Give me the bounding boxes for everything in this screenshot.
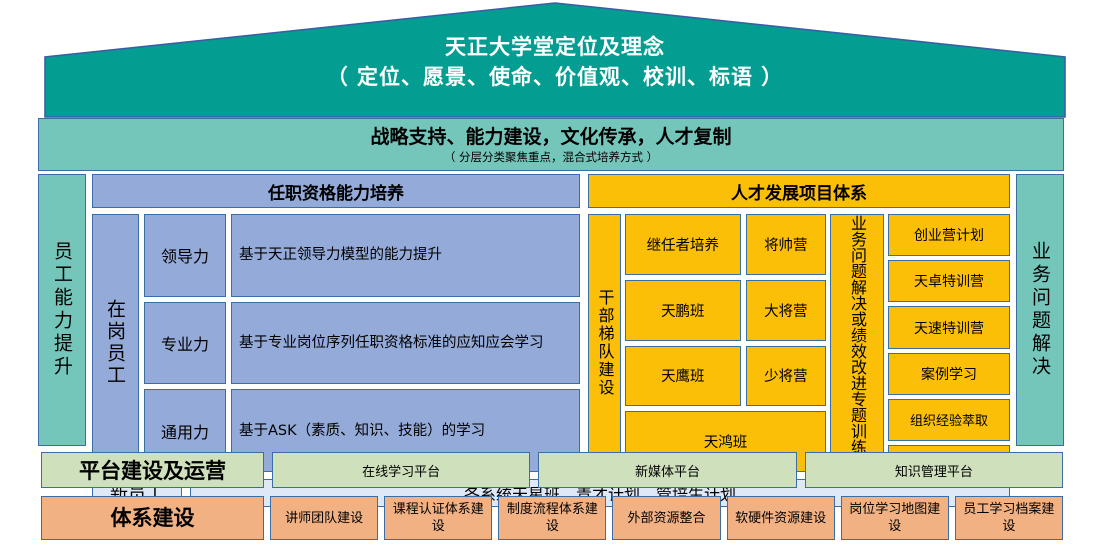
skill-description-cell: 基于专业岗位序列任职资格标准的应知应会学习	[231, 302, 580, 385]
right-pillar-business-problem: 业务问题解决	[1016, 174, 1064, 446]
platform-item[interactable]: 知识管理平台	[805, 452, 1063, 488]
platform-item[interactable]: 新媒体平台	[538, 452, 796, 488]
onjob-employee-label: 在岗员工	[92, 214, 139, 472]
skill-cell[interactable]: 领导力	[144, 214, 226, 297]
platform-row-header: 平台建设及运营	[41, 452, 264, 488]
talent-development-panel-body: 干部梯队建设 继任者培养 将帅营 天鹏班 大将营 天鹰班	[588, 214, 1010, 472]
special-program-cell[interactable]: 天卓特训营	[888, 260, 1010, 302]
system-item[interactable]: 讲师团队建设	[270, 496, 378, 540]
system-item[interactable]: 课程认证体系建设	[384, 496, 492, 540]
strategy-band: 战略支持、能力建设，文化传承，人才复制 （ 分层分类聚焦重点，混合式培养方式 ）	[38, 118, 1064, 171]
special-program-cell[interactable]: 创业营计划	[888, 214, 1010, 256]
skill-cell[interactable]: 专业力	[144, 302, 226, 385]
special-program-cell[interactable]: 案例学习	[888, 353, 1010, 395]
cadre-program-row: 天鹏班 大将营	[625, 280, 826, 341]
diagram-root: 天正大学堂定位及理念 （ 定位、愿景、使命、价值观、校训、标语 ） 战略支持、能…	[0, 0, 1114, 551]
skill-column: 领导力 专业力 通用力	[144, 214, 226, 472]
qualification-panel-body: 在岗员工 领导力 专业力 通用力 基于天正领导力模型的能力提升 基于专业岗位序列…	[92, 214, 580, 472]
qualification-panel: 任职资格能力培养 在岗员工 领导力 专业力 通用力 基于天正领导力模型的能力提升	[92, 174, 580, 472]
program-cell[interactable]: 大将营	[746, 280, 826, 341]
system-item[interactable]: 岗位学习地图建设	[841, 496, 949, 540]
panels-container: 任职资格能力培养 在岗员工 领导力 专业力 通用力 基于天正领导力模型的能力提升	[92, 174, 1010, 472]
strategy-band-main: 战略支持、能力建设，文化传承，人才复制	[370, 125, 731, 149]
program-cell[interactable]: 继任者培养	[625, 214, 741, 275]
roof-shape	[44, 2, 1066, 118]
system-item[interactable]: 软硬件资源建设	[727, 496, 835, 540]
skill-description-column: 基于天正领导力模型的能力提升 基于专业岗位序列任职资格标准的应知应会学习 基于A…	[231, 214, 580, 472]
program-cell[interactable]: 少将营	[746, 346, 826, 407]
roof-section: 天正大学堂定位及理念 （ 定位、愿景、使命、价值观、校训、标语 ）	[44, 2, 1066, 118]
cadre-program-row: 天鹰班 少将营	[625, 346, 826, 407]
system-item[interactable]: 外部资源整合	[612, 496, 720, 540]
special-program-cell[interactable]: 组织经验萃取	[888, 399, 1010, 441]
talent-development-panel-title: 人才发展项目体系	[588, 174, 1010, 208]
qualification-columns: 领导力 专业力 通用力 基于天正领导力模型的能力提升 基于专业岗位序列任职资格标…	[144, 214, 580, 472]
left-pillar-employee-capability: 员工能力提升	[38, 174, 86, 446]
special-program-cell[interactable]: 天速特训营	[888, 306, 1010, 348]
center-column: 任职资格能力培养 在岗员工 领导力 专业力 通用力 基于天正领导力模型的能力提升	[92, 174, 1010, 446]
strategy-band-sub: （ 分层分类聚焦重点，混合式培养方式 ）	[444, 149, 658, 165]
special-program-column: 创业营计划 天卓特训营 天速特训营 案例学习 组织经验萃取 ……	[888, 214, 1010, 472]
program-cell[interactable]: 天鹰班	[625, 346, 741, 407]
main-body: 员工能力提升 任职资格能力培养 在岗员工 领导力 专业力 通用力	[38, 174, 1064, 446]
skill-description-cell: 基于天正领导力模型的能力提升	[231, 214, 580, 297]
qualification-panel-title: 任职资格能力培养	[92, 174, 580, 208]
program-cell[interactable]: 将帅营	[746, 214, 826, 275]
cadre-echelon-label: 干部梯队建设	[588, 214, 621, 472]
system-item[interactable]: 员工学习档案建设	[955, 496, 1063, 540]
program-cell[interactable]: 天鹏班	[625, 280, 741, 341]
platform-item[interactable]: 在线学习平台	[272, 452, 530, 488]
platform-row: 平台建设及运营 在线学习平台 新媒体平台 知识管理平台	[41, 452, 1063, 488]
system-row: 体系建设 讲师团队建设 课程认证体系建设 制度流程体系建设 外部资源整合 软硬件…	[41, 496, 1063, 540]
cadre-program-grid: 继任者培养 将帅营 天鹏班 大将营 天鹰班 少将营	[625, 214, 826, 472]
system-row-header: 体系建设	[41, 496, 264, 540]
talent-development-panel: 人才发展项目体系 干部梯队建设 继任者培养 将帅营 天鹏班 大将营	[588, 174, 1010, 472]
business-problem-training-label: 业务问题解决或绩效改进专题训练营	[830, 214, 884, 472]
cadre-program-row: 继任者培养 将帅营	[625, 214, 826, 275]
system-item[interactable]: 制度流程体系建设	[498, 496, 606, 540]
